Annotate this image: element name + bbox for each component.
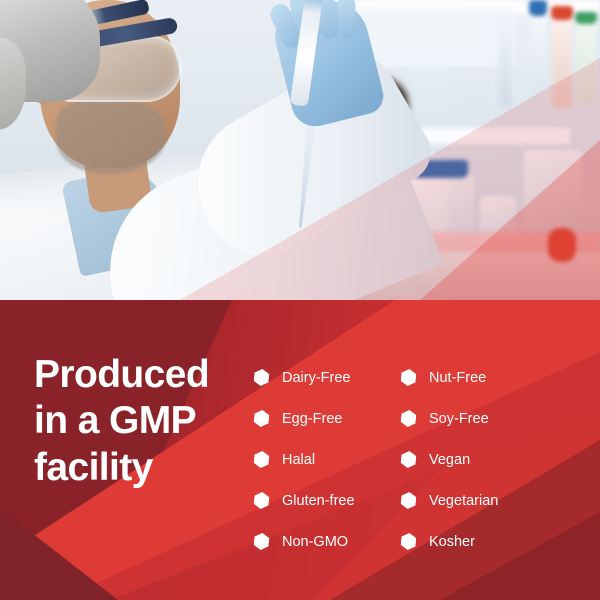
certification-label: Vegan: [429, 452, 470, 468]
reagent-bottle: [498, 18, 512, 106]
list-item: Gluten-free: [254, 480, 401, 521]
certification-label: Kosher: [429, 534, 475, 550]
hexagon-bullet-icon: [253, 532, 270, 550]
list-item: Nut-Free: [401, 357, 548, 398]
list-item: Egg-Free: [254, 398, 401, 439]
list-item: Halal: [254, 439, 401, 480]
hexagon-bullet-icon: [400, 450, 417, 468]
bottle-cap: [575, 12, 597, 24]
hexagon-bullet-icon: [253, 409, 270, 427]
red-panel: Produced in a GMP facility Dairy-Free Eg…: [0, 300, 600, 600]
bottle-cap: [529, 0, 547, 16]
certification-label: Nut-Free: [429, 370, 486, 386]
glove-finger: [337, 0, 356, 38]
certification-label: Soy-Free: [429, 411, 489, 427]
hexagon-bullet-icon: [253, 491, 270, 509]
list-item: Kosher: [401, 521, 548, 562]
certification-label: Vegetarian: [429, 493, 498, 509]
page-title: Produced in a GMP facility: [34, 352, 249, 491]
certification-label: Dairy-Free: [282, 370, 350, 386]
hexagon-bullet-icon: [400, 368, 417, 386]
certification-column-right: Nut-Free Soy-Free Vegan Vegetarian: [401, 357, 548, 562]
certification-lists: Dairy-Free Egg-Free Halal Gluten-free: [254, 357, 548, 562]
certification-label: Halal: [282, 452, 315, 468]
beard: [56, 100, 166, 174]
promo-graphic: Produced in a GMP facility Dairy-Free Eg…: [0, 0, 600, 600]
list-item: Dairy-Free: [254, 357, 401, 398]
certification-label: Non-GMO: [282, 534, 348, 550]
list-item: Vegetarian: [401, 480, 548, 521]
hexagon-bullet-icon: [400, 532, 417, 550]
list-item: Non-GMO: [254, 521, 401, 562]
hexagon-bullet-icon: [253, 450, 270, 468]
certification-label: Gluten-free: [282, 493, 355, 509]
lab-photo: [0, 0, 600, 300]
hexagon-bullet-icon: [253, 368, 270, 386]
list-item: Soy-Free: [401, 398, 548, 439]
panel-content: Produced in a GMP facility Dairy-Free Eg…: [0, 300, 600, 600]
certification-column-left: Dairy-Free Egg-Free Halal Gluten-free: [254, 357, 401, 562]
certification-label: Egg-Free: [282, 411, 342, 427]
hexagon-bullet-icon: [400, 491, 417, 509]
reagent-bottle: [530, 6, 546, 102]
hexagon-bullet-icon: [400, 409, 417, 427]
list-item: Vegan: [401, 439, 548, 480]
bottle-cap: [551, 6, 573, 20]
